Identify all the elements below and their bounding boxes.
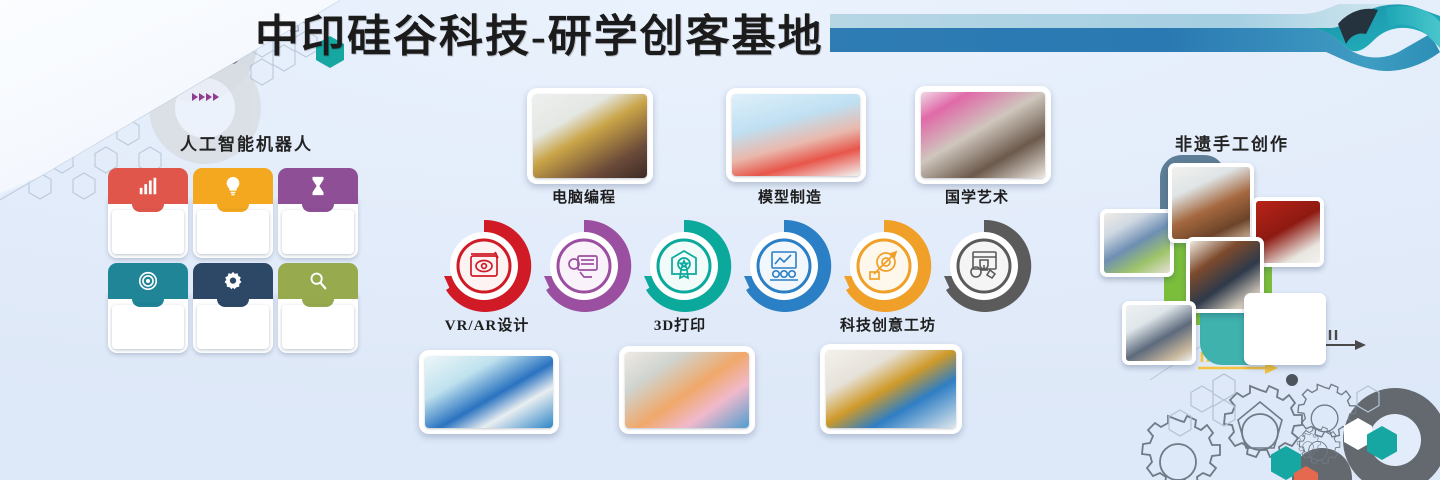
process-badge[interactable] <box>932 214 1036 318</box>
ai-card[interactable] <box>193 168 273 258</box>
center-photo-bottom-3 <box>826 350 956 428</box>
center-photo-top-1 <box>533 94 647 178</box>
card-header <box>108 168 188 204</box>
card-header <box>278 263 358 299</box>
center-label-top-2: 模型制造 <box>726 186 854 207</box>
ai-photo-4 <box>112 305 184 349</box>
center-photo-card[interactable] <box>619 346 755 434</box>
ai-photo-5 <box>197 305 269 349</box>
center-label-bottom-2: 3D打印 <box>632 314 728 335</box>
bar-chart-icon <box>137 175 159 197</box>
craft-photo-3 <box>1256 201 1320 263</box>
process-badge[interactable] <box>532 214 636 318</box>
center-photo-top-2 <box>732 94 860 176</box>
ai-card[interactable] <box>108 168 188 258</box>
card-header <box>193 263 273 299</box>
card-header <box>278 168 358 204</box>
ai-card[interactable] <box>278 263 358 353</box>
craft-card[interactable] <box>1168 163 1254 243</box>
card-header <box>193 168 273 204</box>
center-label-bottom-1: VR/AR设计 <box>432 314 542 335</box>
ai-card[interactable] <box>278 168 358 258</box>
craft-card[interactable] <box>1100 209 1174 277</box>
center-photo-top-3 <box>921 92 1045 178</box>
center-label-top-3: 国学艺术 <box>915 186 1039 207</box>
center-label-bottom-3: 科技创意工坊 <box>824 314 952 335</box>
center-photo-card[interactable] <box>527 88 653 184</box>
ai-card[interactable] <box>193 263 273 353</box>
magnifier-icon <box>307 270 329 292</box>
section-title-ai: 人工智能机器人 <box>180 130 313 155</box>
craft-photo-1 <box>1104 213 1170 273</box>
process-badge[interactable] <box>632 214 736 318</box>
center-photo-card[interactable] <box>820 344 962 434</box>
process-badge-row <box>432 214 1040 314</box>
ai-card[interactable] <box>108 263 188 353</box>
page-title: 中印硅谷科技-研学创客基地 <box>255 6 815 68</box>
process-badge[interactable] <box>732 214 836 318</box>
header-ribbon <box>830 4 1440 78</box>
ai-photo-6 <box>282 305 354 349</box>
poster-canvas: 中印硅谷科技-研学创客基地 <box>0 0 1440 480</box>
craft-photo-6 <box>1248 297 1322 361</box>
craft-photo-5 <box>1126 305 1192 361</box>
process-badge[interactable] <box>432 214 536 318</box>
craft-card[interactable] <box>1122 301 1196 365</box>
ai-photo-2 <box>197 210 269 254</box>
ai-card-grid <box>108 168 368 358</box>
hourglass-icon <box>307 175 329 197</box>
card-header <box>108 263 188 299</box>
section-title-craft: 非遗手工创作 <box>1175 130 1289 155</box>
center-photo-bottom-2 <box>625 352 749 428</box>
lightbulb-icon <box>222 175 244 197</box>
craft-card[interactable] <box>1244 293 1326 365</box>
center-photo-bottom-1 <box>425 356 553 428</box>
ai-photo-1 <box>112 210 184 254</box>
gear-icon <box>222 270 244 292</box>
center-label-top-1: 电脑编程 <box>527 186 641 207</box>
craft-photo-cluster <box>1100 155 1430 375</box>
ai-photo-3 <box>282 210 354 254</box>
craft-photo-2 <box>1172 167 1250 239</box>
target-icon <box>137 270 159 292</box>
center-photo-card[interactable] <box>419 350 559 434</box>
center-photo-card[interactable] <box>915 86 1051 184</box>
process-badge[interactable] <box>832 214 936 318</box>
center-photo-card[interactable] <box>726 88 866 182</box>
